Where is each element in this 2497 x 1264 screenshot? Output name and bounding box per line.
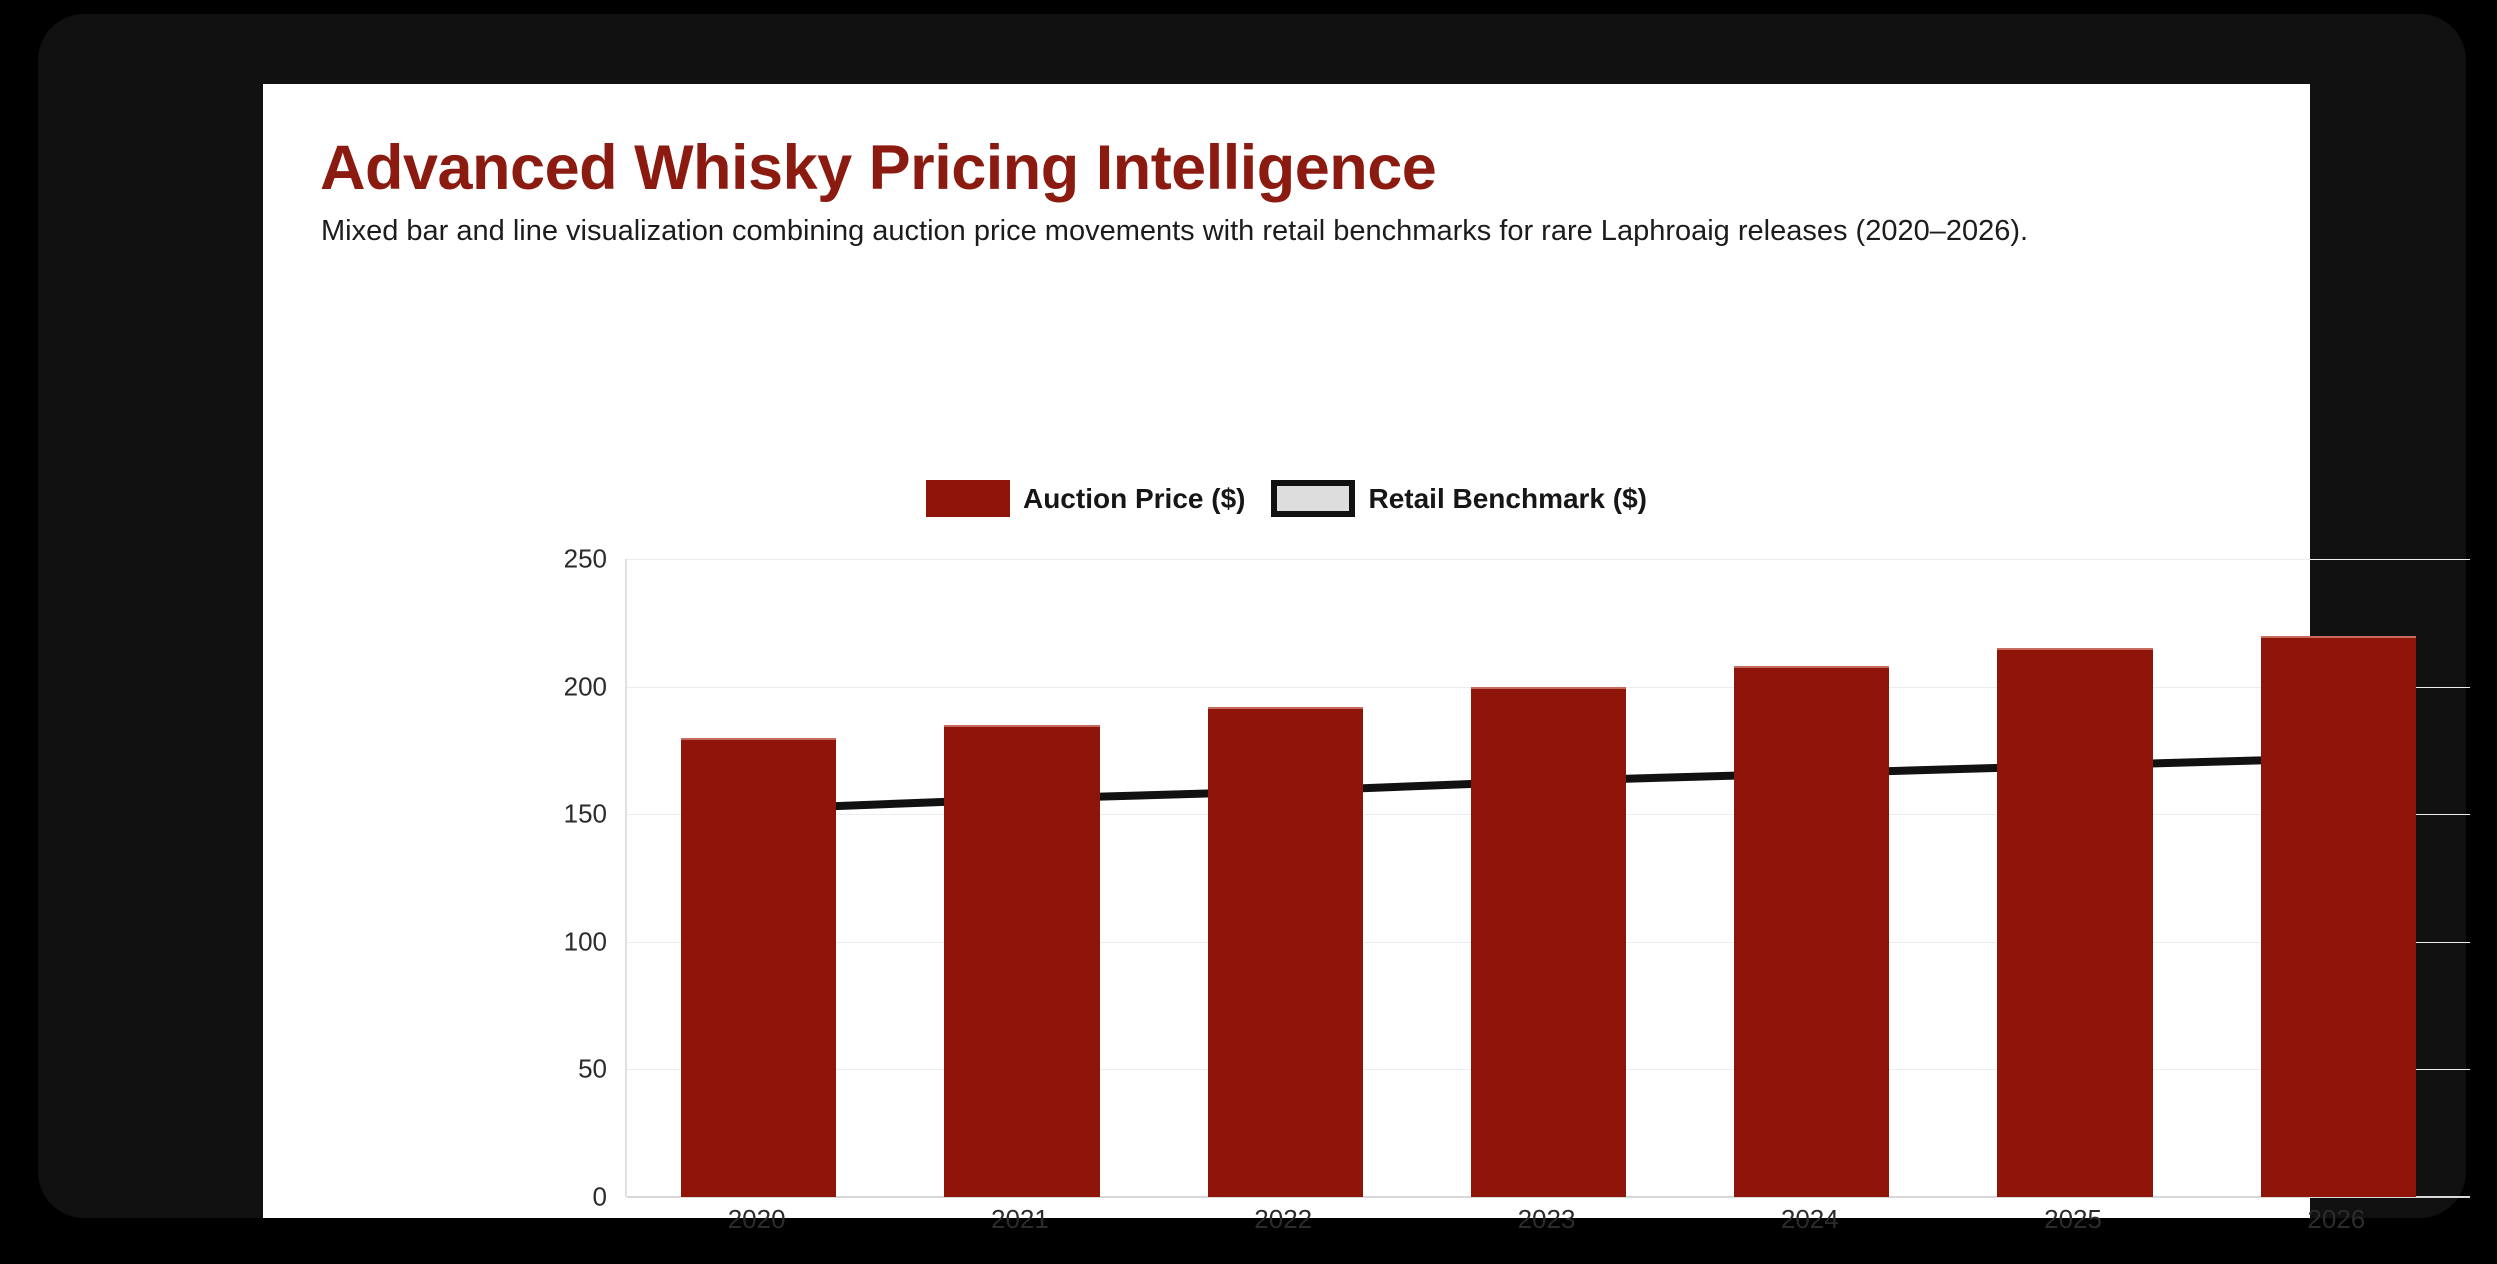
whisky-pricing-chart: Auction Price ($) Retail Benchmark ($) 0… [263, 404, 2310, 1204]
x-axis-tick-label: 2025 [2044, 1204, 2102, 1235]
bar-2020[interactable] [681, 738, 836, 1197]
content-panel: Advanced Whisky Pricing Intelligence Mix… [263, 84, 2310, 1218]
legend-swatch-bar-icon [926, 480, 1010, 517]
bar-2026[interactable] [2261, 636, 2416, 1197]
bar-2024[interactable] [1734, 666, 1889, 1197]
bar-2025[interactable] [1997, 648, 2152, 1197]
bar-2023[interactable] [1471, 687, 1626, 1197]
x-axis-tick-label: 2022 [1254, 1204, 1312, 1235]
bar-2021[interactable] [944, 725, 1099, 1197]
y-axis-tick-label: 0 [593, 1182, 607, 1213]
y-axis-tick-label: 100 [564, 926, 607, 957]
device-bezel: Advanced Whisky Pricing Intelligence Mix… [38, 14, 2466, 1218]
legend-label-auction-price: Auction Price ($) [1023, 483, 1245, 515]
x-axis: 2020202120222023202420252026 [625, 1204, 2468, 1264]
bar-2022[interactable] [1208, 707, 1363, 1197]
x-axis-tick-label: 2020 [728, 1204, 786, 1235]
x-axis-tick-label: 2026 [2307, 1204, 2365, 1235]
chart-legend: Auction Price ($) Retail Benchmark ($) [263, 480, 2310, 517]
x-axis-tick-label: 2024 [1781, 1204, 1839, 1235]
page-title: Advanced Whisky Pricing Intelligence [320, 132, 1436, 204]
legend-label-retail-benchmark: Retail Benchmark ($) [1368, 483, 1647, 515]
legend-item-retail-benchmark[interactable]: Retail Benchmark ($) [1271, 480, 1647, 517]
y-axis-tick-label: 50 [578, 1054, 607, 1085]
y-axis-tick-label: 150 [564, 799, 607, 830]
page-subtitle: Mixed bar and line visualization combini… [321, 214, 2241, 249]
legend-item-auction-price[interactable]: Auction Price ($) [926, 480, 1245, 517]
x-axis-tick-label: 2023 [1518, 1204, 1576, 1235]
plot-area [625, 559, 2468, 1197]
x-axis-tick-label: 2021 [991, 1204, 1049, 1235]
gridline [627, 559, 2470, 560]
legend-swatch-line-icon [1271, 480, 1355, 517]
y-axis-tick-label: 200 [564, 671, 607, 702]
y-axis: 050100150200250 [263, 559, 625, 1197]
y-axis-tick-label: 250 [564, 544, 607, 575]
